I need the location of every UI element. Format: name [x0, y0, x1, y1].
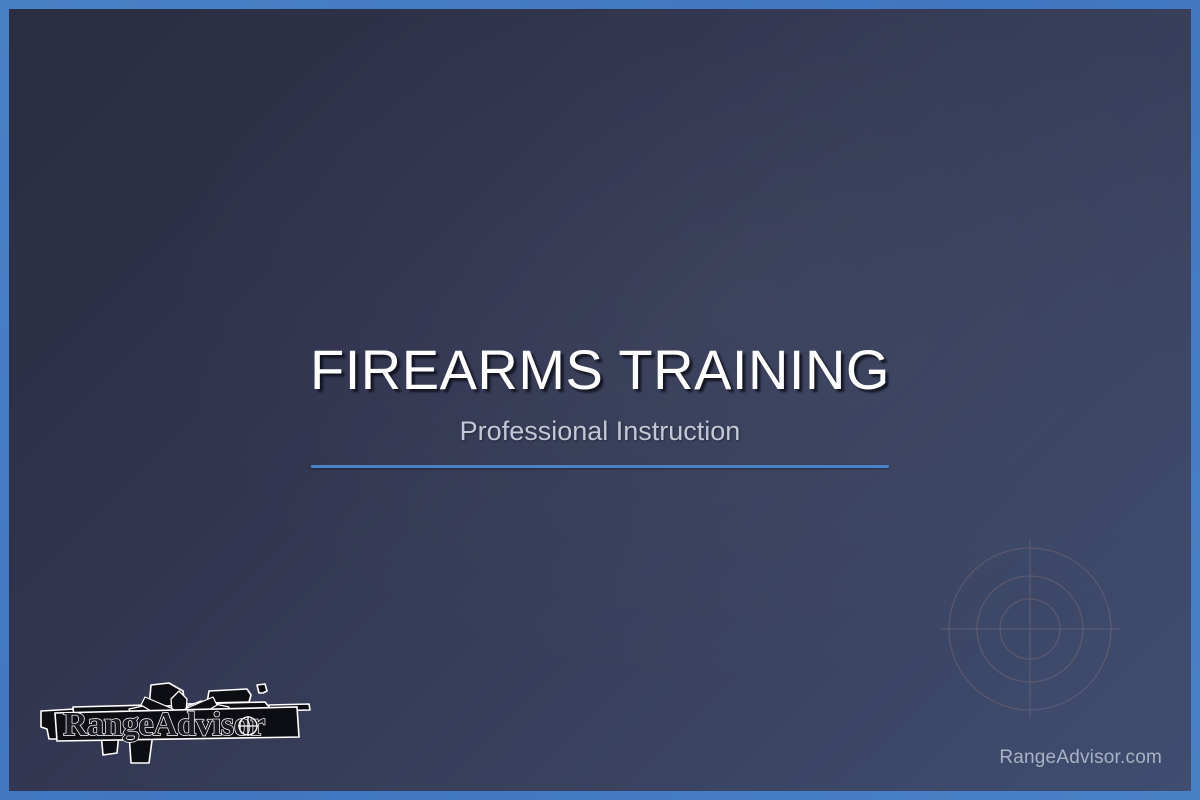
title-accent-rule [311, 465, 889, 468]
slide-canvas: FIREARMS TRAINING Professional Instructi… [9, 9, 1191, 791]
brand-logo: RangeAdvisor [33, 669, 318, 769]
presentation-slide: FIREARMS TRAINING Professional Instructi… [0, 0, 1200, 800]
logo-wordmark-text: RangeAdvisor [63, 706, 265, 743]
page-subtitle: Professional Instruction [9, 415, 1191, 447]
footer-website-url: RangeAdvisor.com [999, 747, 1162, 769]
page-title: FIREARMS TRAINING [9, 339, 1191, 401]
target-reticle-watermark [930, 529, 1130, 729]
title-block: FIREARMS TRAINING Professional Instructi… [9, 339, 1191, 468]
